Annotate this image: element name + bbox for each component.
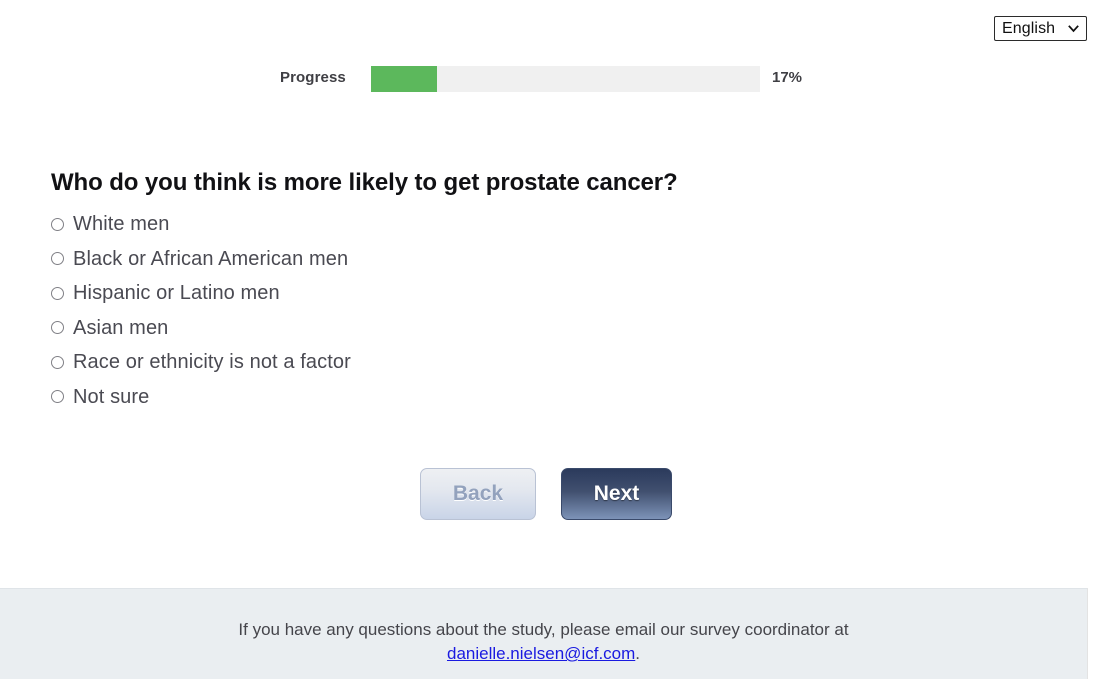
progress-label: Progress [280,69,346,86]
navigation-buttons: Back Next [0,468,1097,524]
progress-section: Progress 17% [0,66,1097,90]
options-group: White menBlack or African American menHi… [51,207,751,414]
radio-button-icon[interactable] [51,287,64,300]
radio-button-icon[interactable] [51,321,64,334]
chevron-down-icon [1067,22,1080,35]
language-select-box[interactable]: English [994,16,1087,41]
language-selector[interactable]: English [994,16,1087,41]
scrollbar-strip[interactable] [1087,588,1097,679]
option-label: Not sure [73,387,149,407]
progress-track [371,66,760,92]
radio-button-icon[interactable] [51,218,64,231]
option-row[interactable]: Black or African American men [51,242,751,277]
option-label: Hispanic or Latino men [73,283,280,303]
footer-period: . [635,644,640,663]
page-title: Who do you think is more likely to get p… [51,169,678,197]
option-row[interactable]: Race or ethnicity is not a factor [51,345,751,380]
next-button[interactable]: Next [561,468,672,520]
option-row[interactable]: Asian men [51,311,751,346]
progress-percent: 17% [772,69,802,86]
radio-button-icon[interactable] [51,252,64,265]
footer: If you have any questions about the stud… [0,588,1087,679]
option-row[interactable]: Not sure [51,380,751,415]
language-select-value: English [1002,21,1055,37]
footer-line1: If you have any questions about the stud… [238,620,848,639]
option-row[interactable]: Hispanic or Latino men [51,276,751,311]
option-row[interactable]: White men [51,207,751,242]
option-label: Race or ethnicity is not a factor [73,352,351,372]
radio-button-icon[interactable] [51,390,64,403]
progress-fill [371,66,437,92]
coordinator-email-link[interactable]: danielle.nielsen@icf.com [447,644,635,663]
option-label: Asian men [73,318,168,338]
option-label: White men [73,214,170,234]
option-label: Black or African American men [73,249,348,269]
footer-text: If you have any questions about the stud… [0,618,1087,666]
back-button[interactable]: Back [420,468,536,520]
radio-button-icon[interactable] [51,356,64,369]
